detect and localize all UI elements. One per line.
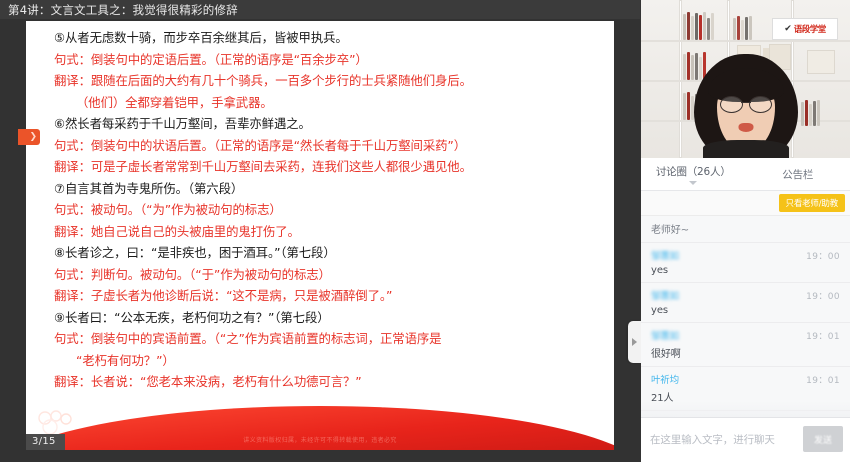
chat-message-header: 叶祈均19：01: [651, 372, 840, 386]
slide-line: ⑦自言其首为寺鬼所伤。（第六段）: [54, 178, 602, 200]
tab-discussion-label: 讨论圈（26人）: [656, 164, 731, 179]
sidebar-collapse-handle[interactable]: [628, 321, 641, 363]
chat-composer: 在这里输入文字，进行聊天 发送: [641, 417, 850, 462]
slide-line: ⑨长者曰：“公本无疾，老朽何功之有？”（第七段）: [54, 307, 602, 329]
lesson-title: 第4讲：文言文工具之：我觉得很精彩的修辞: [0, 2, 238, 18]
triangle-right-icon: [632, 338, 637, 346]
banner-brand-text: 语段学堂: [794, 23, 826, 35]
chat-message-text: 老师好~: [651, 221, 840, 236]
teacher-avatar: [681, 52, 811, 158]
slide-text-block: ⑤从者无虑数十骑，而步卒百余继其后，皆被甲执兵。句式：倒装句中的定语后置。（正常…: [54, 27, 602, 393]
chat-input[interactable]: 在这里输入文字，进行聊天: [650, 432, 775, 447]
slide-line: 翻译：她自己说自己的头被庙里的鬼打伤了。: [54, 221, 602, 243]
chevron-down-icon: [689, 181, 697, 185]
slide-panel-expand-button[interactable]: ❯: [18, 129, 40, 145]
slide-stage: ⑤从者无虑数十骑，而步卒百余继其后，皆被甲执兵。句式：倒装句中的定语后置。（正常…: [0, 19, 640, 462]
chat-message-author[interactable]: 叶祈均: [651, 372, 679, 386]
chat-message-author[interactable]: 邹蕙如: [651, 248, 679, 262]
chat-message-text: yes: [651, 305, 840, 316]
chat-message-header: 邹蕙如19：00: [651, 288, 840, 302]
chat-message-header: 邹蕙如19：01: [651, 328, 840, 342]
right-sidebar: ✔ 语段学堂 讨论圈（26人） 公告栏: [641, 0, 850, 462]
check-icon: ✔: [784, 24, 792, 34]
slide-line: 句式：倒装句中的宾语前置。（“之”作为宾语前置的标志词，正常语序是: [54, 328, 602, 350]
slide-canvas: ⑤从者无虑数十骑，而步卒百余继其后，皆被甲执兵。句式：倒装句中的定语后置。（正常…: [26, 21, 614, 450]
slide-line: 句式：倒装句中的定语后置。（正常的语序是“百余步卒”）: [54, 49, 602, 71]
slide-line: ⑥然长者每采药于千山万壑间，吾辈亦鲜遇之。: [54, 113, 602, 135]
chat-message-list[interactable]: 老师好~邹蕙如19：00yes邹蕙如19：00yes邹蕙如19：01很好啊叶祈均…: [641, 216, 850, 419]
slide-line: 翻译：子虚长者为他诊断后说：“这不是病，只是被酒醉倒了。”: [54, 285, 602, 307]
chat-message: 老师好~: [641, 216, 850, 243]
sidebar-tabs: 讨论圈（26人） 公告栏: [641, 158, 850, 191]
send-button[interactable]: 发送: [803, 426, 843, 452]
slide-line: 翻译：跟随在后面的大约有几十个骑兵，一百多个步行的士兵紧随他们身后。: [54, 70, 602, 92]
chat-message: 邹蕙如19：00yes: [641, 283, 850, 323]
tab-announcements-label: 公告栏: [782, 167, 813, 182]
torso-shape: [703, 140, 789, 158]
chat-message-text: 很好啊: [651, 345, 840, 360]
tab-discussion[interactable]: 讨论圈（26人）: [641, 158, 746, 190]
slide-line: 句式：判断句。被动句。（“于”作为被动句的标志）: [54, 264, 602, 286]
chat-message-text: yes: [651, 265, 840, 276]
slide-line: “老朽有何功？”）: [54, 350, 602, 372]
slide-line: 翻译：长者说：“您老本来没病，老朽有什么功德可言？”: [54, 371, 602, 393]
window-titlebar: 第4讲：文言文工具之：我觉得很精彩的修辞: [0, 0, 640, 19]
teacher-video-feed[interactable]: ✔ 语段学堂: [641, 0, 850, 158]
mouth-shape: [738, 123, 753, 132]
chat-filter-row: 只看老师/助教: [641, 191, 850, 216]
chat-message: 邹蕙如19：00yes: [641, 243, 850, 283]
slide-line: ⑤从者无虑数十骑，而步卒百余继其后，皆被甲执兵。: [54, 27, 602, 49]
chat-message-author[interactable]: 邹蕙如: [651, 288, 679, 302]
live-class-window: 第4讲：文言文工具之：我觉得很精彩的修辞 ⑤从者无虑数十骑，而步卒百余继其后，皆…: [0, 0, 850, 462]
slide-line: 翻译：可是子虚长者常常到千山万壑间去采药，连我们这些人都很少遇见他。: [54, 156, 602, 178]
glasses-icon: [720, 96, 772, 111]
slide-footer-decoration: 讲义资料版权归属，未经许可不得转载使用，违者必究: [26, 392, 614, 450]
slide-line: 句式：被动句。（“为”作为被动句的标志）: [54, 199, 602, 221]
chat-message-time: 19：01: [806, 329, 840, 342]
chat-message: 邹蕙如19：01很好啊: [641, 323, 850, 367]
chat-message-header: 邹蕙如19：00: [651, 248, 840, 262]
tab-announcements[interactable]: 公告栏: [746, 158, 850, 190]
chat-message-author[interactable]: 邹蕙如: [651, 328, 679, 342]
studio-banner-sign: ✔ 语段学堂: [772, 18, 838, 40]
send-button-label: 发送: [814, 433, 832, 446]
chat-message-time: 19：00: [806, 289, 840, 302]
slide-line: 句式：倒装句中的状语后置。（正常的语序是“然长者每于千山万壑间采药”）: [54, 135, 602, 157]
only-teacher-filter-button[interactable]: 只看老师/助教: [779, 194, 845, 212]
chat-message-time: 19：00: [806, 249, 840, 262]
slide-line: ⑧长者诊之，曰：“是非疾也，困于酒耳。”（第七段）: [54, 242, 602, 264]
slide-page-indicator: 3/15: [26, 434, 65, 450]
chat-message-time: 19：01: [806, 373, 840, 386]
slide-line: （他们）全都穿着铠甲，手拿武器。: [54, 92, 602, 114]
chevron-right-icon: ❯: [29, 133, 40, 142]
slide-watermark: 讲义资料版权归属，未经许可不得转载使用，违者必究: [26, 435, 614, 444]
